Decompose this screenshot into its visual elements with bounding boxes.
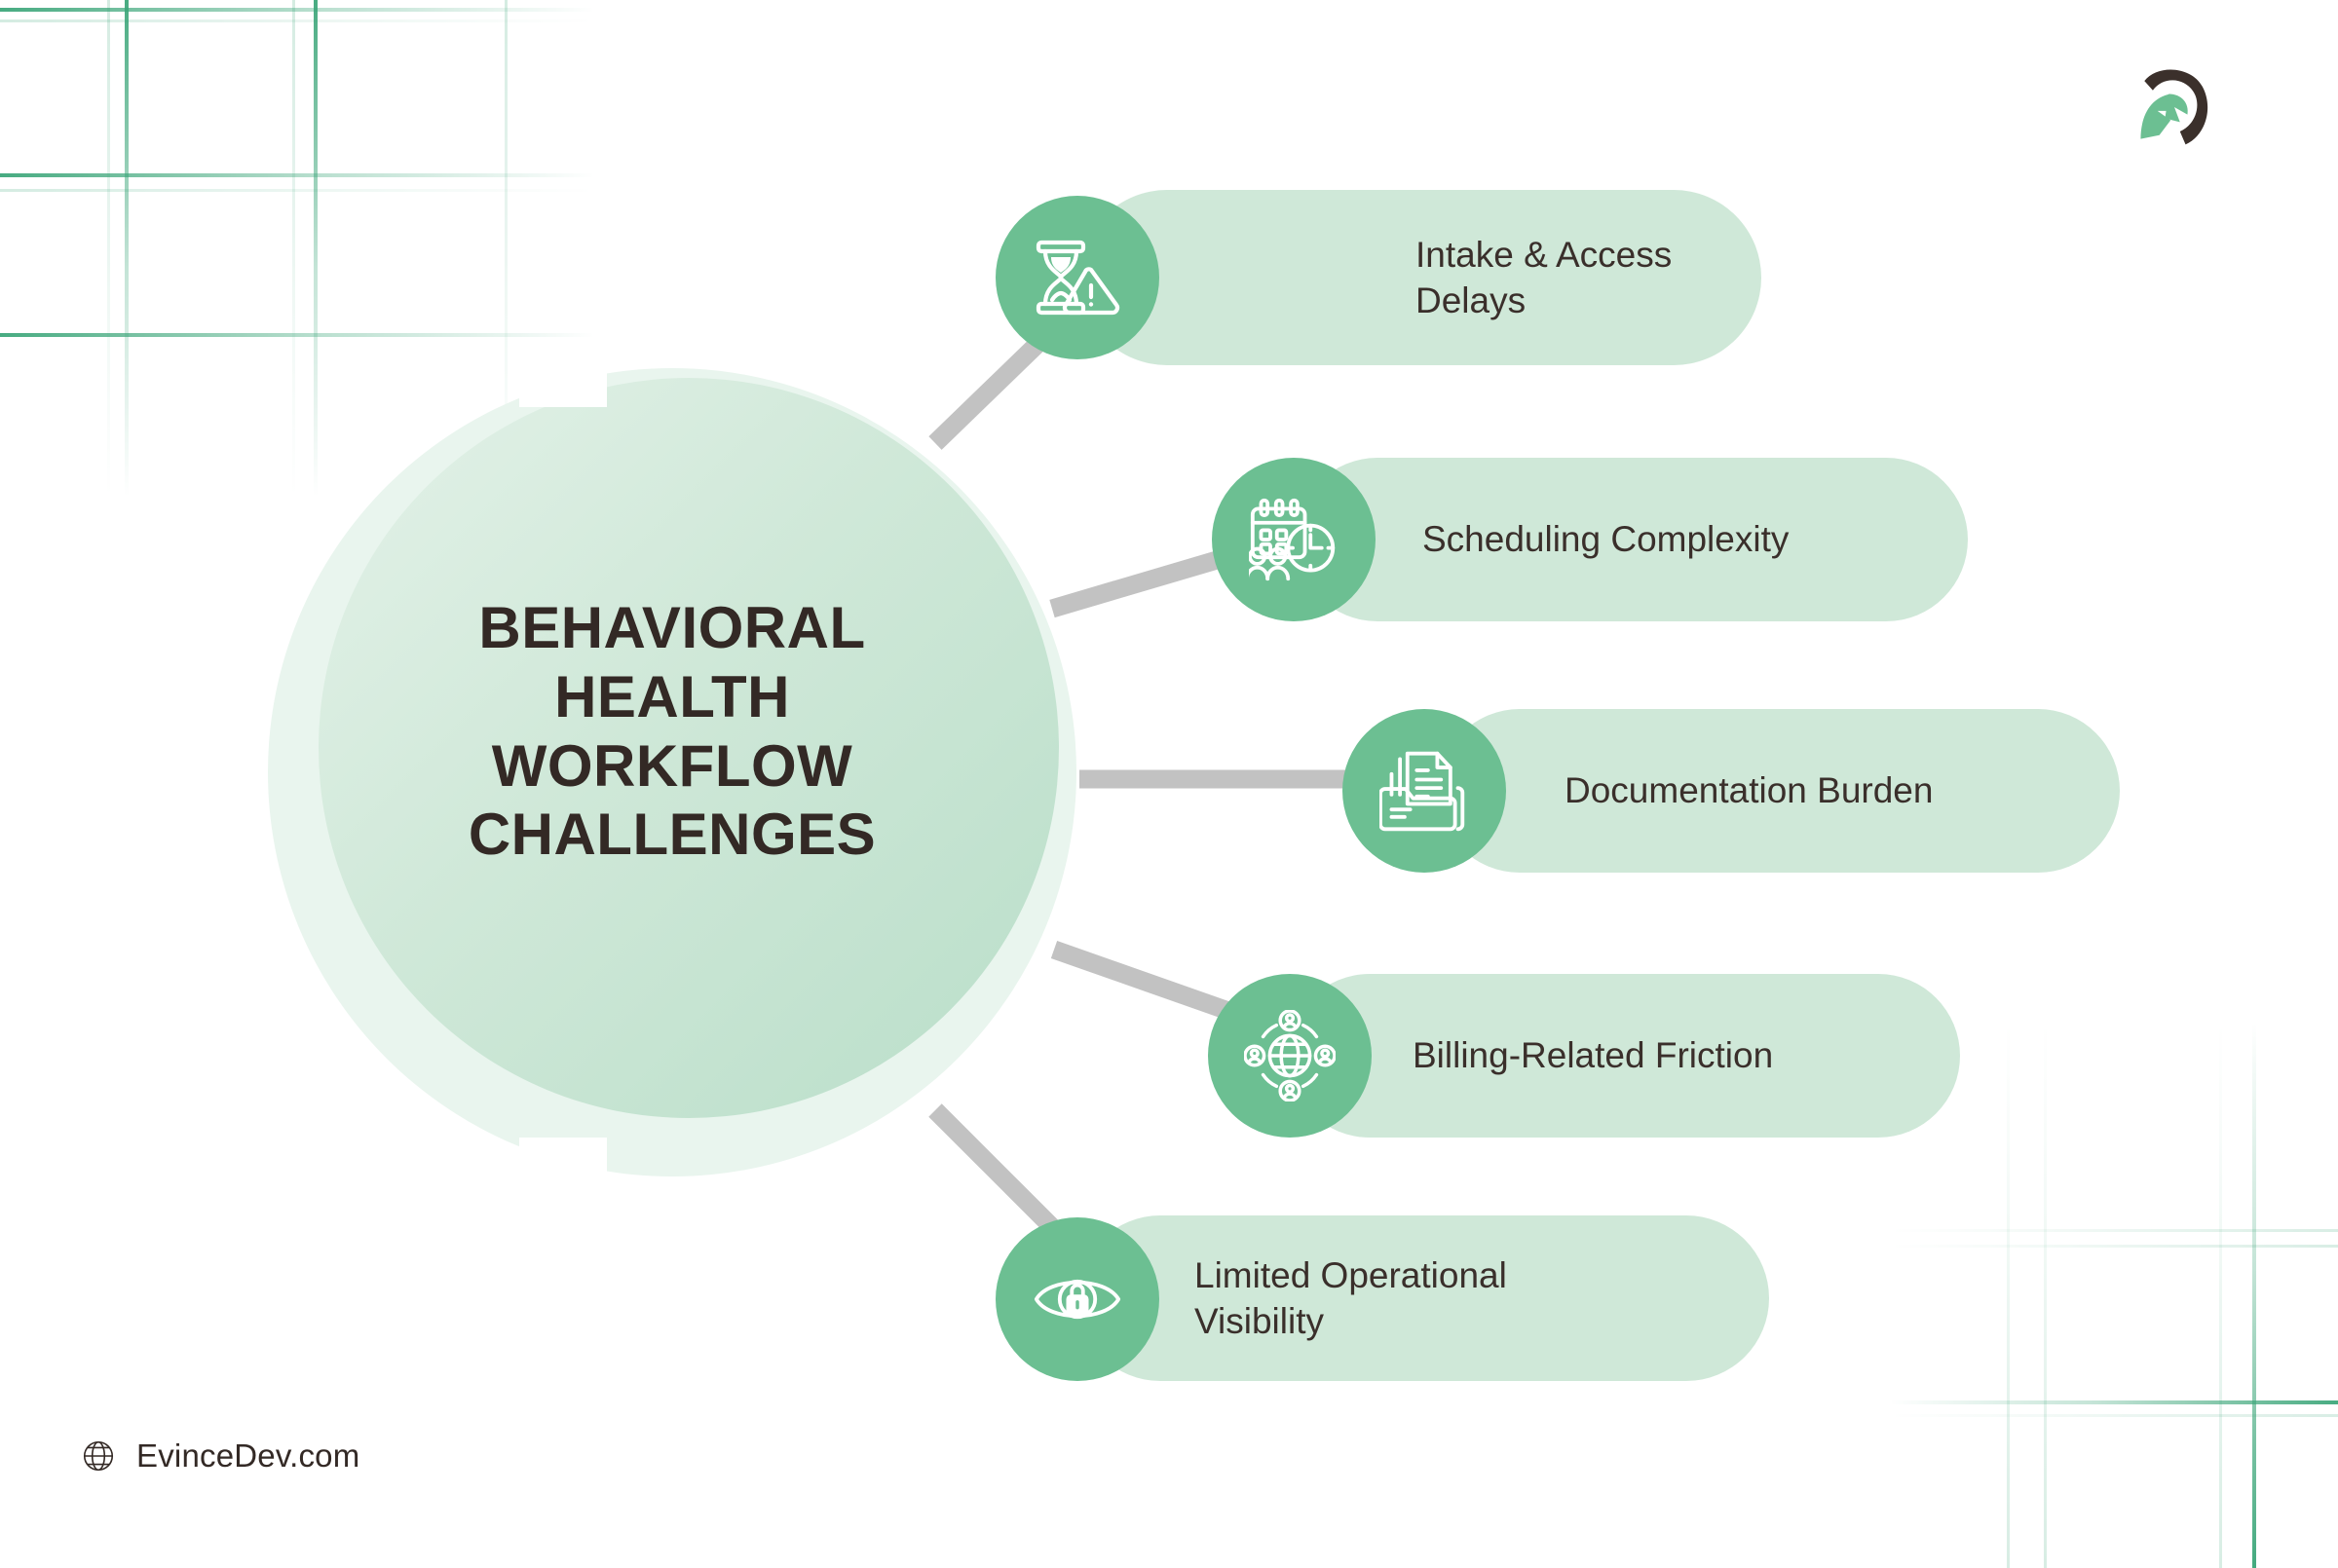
item-pill-2[interactable]: Scheduling Complexity: [1296, 458, 1968, 621]
item-icon-5[interactable]: [996, 1217, 1159, 1381]
item-label-4: Billing-Related Friction: [1413, 1032, 1773, 1078]
central-hub: Behavioral Health Workflow Challenges: [268, 368, 1076, 1176]
footer-website: EvinceDev.com: [136, 1437, 359, 1475]
item-label-3: Documentation Burden: [1565, 767, 1933, 813]
item-label-5: Limited Operational Visibility: [1194, 1252, 1507, 1345]
infographic-canvas: Behavioral Health Workflow Challenges In…: [0, 0, 2338, 1558]
evincedev-logo-icon: [2128, 60, 2221, 154]
item-pill-3[interactable]: Documentation Burden: [1438, 709, 2120, 873]
item-pill-1[interactable]: Intake & Access Delays: [1079, 190, 1761, 365]
item-label-2: Scheduling Complexity: [1422, 516, 1789, 562]
item-icon-2[interactable]: [1212, 458, 1376, 621]
globe-icon: [80, 1437, 117, 1475]
globe-network-people-icon: [1244, 1010, 1336, 1101]
calendar-clock-people-icon: [1249, 495, 1339, 584]
item-label-1: Intake & Access Delays: [1415, 232, 1761, 324]
item-icon-3[interactable]: [1342, 709, 1506, 873]
item-icon-4[interactable]: [1208, 974, 1372, 1138]
hub-title: Behavioral Health Workflow Challenges: [268, 594, 1076, 870]
item-pill-5[interactable]: Limited Operational Visibility: [1077, 1215, 1769, 1381]
item-pill-4[interactable]: Billing-Related Friction: [1288, 974, 1960, 1138]
item-icon-1[interactable]: [996, 196, 1159, 359]
eye-lock-icon: [1033, 1254, 1122, 1344]
hub-notch-bottom: [519, 1138, 607, 1180]
hub-notch-top: [519, 364, 607, 407]
documents-folder-icon: [1379, 746, 1469, 836]
hourglass-warning-icon: [1031, 231, 1124, 324]
footer: EvinceDev.com: [80, 1437, 359, 1475]
